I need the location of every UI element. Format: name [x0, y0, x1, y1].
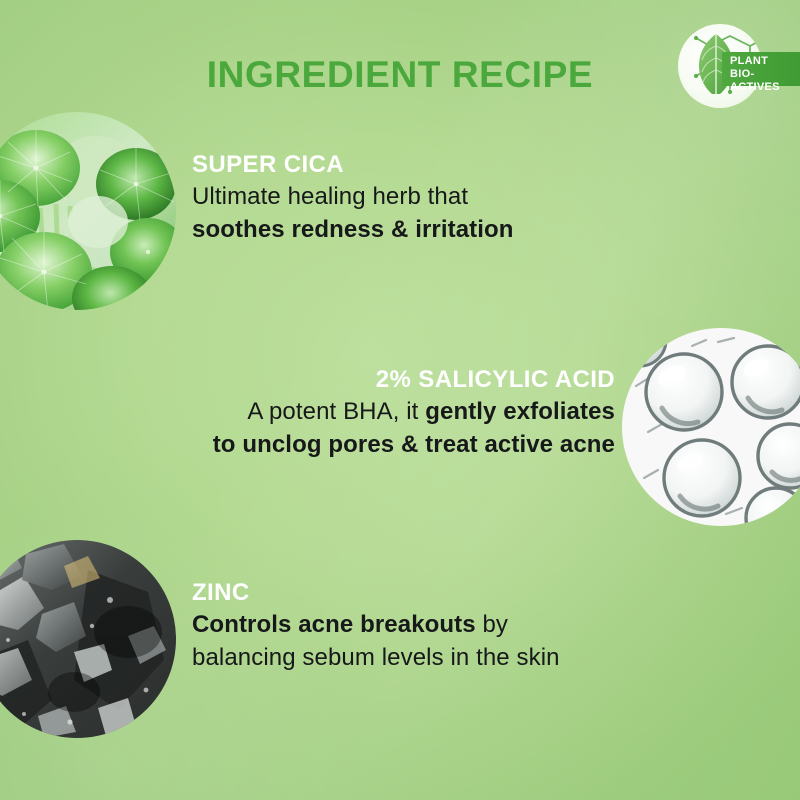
ingredient-heading-zinc: ZINC — [192, 578, 622, 608]
centella-leaves-photo — [0, 112, 176, 310]
zinc-ore-photo — [0, 540, 176, 738]
zinc-body-line2: balancing sebum levels in the skin — [192, 644, 560, 671]
salicylic-body-line1-bold: gently exfoliates — [425, 398, 615, 425]
ingredient-body-zinc: Controls acne breakouts by balancing seb… — [192, 608, 622, 674]
cica-body-line1: Ultimate healing herb that — [192, 183, 468, 210]
ingredient-body-salicylic-acid: A potent BHA, it gently exfoliates to un… — [160, 395, 615, 461]
gel-droplets-photo — [622, 328, 800, 526]
plant-bio-actives-logo: PLANT BIO-ACTIVES — [670, 24, 798, 108]
ingredient-heading-super-cica: SUPER CICA — [192, 150, 612, 180]
ingredient-heading-salicylic-acid: 2% SALICYLIC ACID — [160, 365, 615, 395]
logo-line-1: PLANT — [730, 55, 800, 68]
salicylic-body-line1-regular: A potent BHA, it — [247, 398, 425, 425]
ingredient-block-salicylic-acid: 2% SALICYLIC ACID A potent BHA, it gentl… — [160, 365, 615, 461]
ingredient-recipe-infographic: INGREDIENT RECIPE — [0, 0, 800, 800]
zinc-body-line1-regular: by — [476, 611, 508, 638]
zinc-body-line1-bold: Controls acne breakouts — [192, 611, 476, 638]
ingredient-block-super-cica: SUPER CICA Ultimate healing herb that so… — [192, 150, 612, 246]
ingredient-block-zinc: ZINC Controls acne breakouts by balancin… — [192, 578, 622, 674]
cica-body-line2: soothes redness & irritation — [192, 216, 514, 243]
logo-banner: PLANT BIO-ACTIVES — [722, 52, 800, 86]
salicylic-body-line2: to unclog pores & treat active acne — [213, 431, 615, 458]
logo-line-2: BIO-ACTIVES — [730, 68, 800, 94]
ingredient-body-super-cica: Ultimate healing herb that soothes redne… — [192, 180, 612, 246]
